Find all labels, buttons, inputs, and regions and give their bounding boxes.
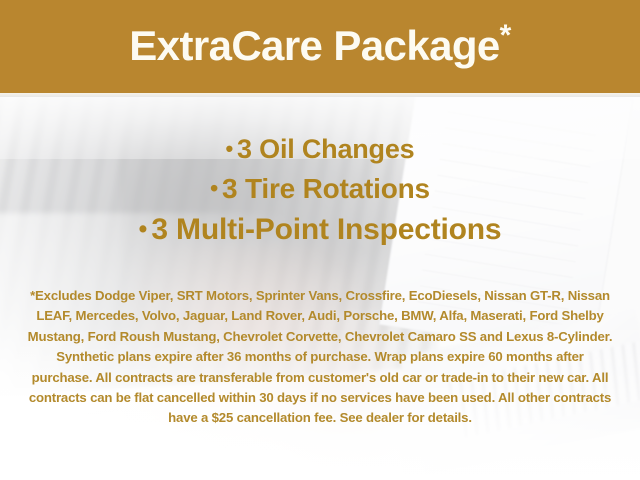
header-banner: ExtraCare Package* [0, 0, 640, 93]
bullet-icon: • [139, 216, 147, 243]
benefit-label: 3 Multi-Point Inspections [151, 213, 501, 246]
benefit-label: 3 Tire Rotations [222, 173, 430, 204]
title-asterisk: * [500, 19, 511, 52]
page-title-text: ExtraCare Package [129, 22, 499, 69]
benefit-item-multi-point-inspections: •3 Multi-Point Inspections [0, 215, 640, 245]
bullet-icon: • [210, 175, 218, 201]
benefit-item-oil-changes: •3 Oil Changes [0, 136, 640, 163]
header-underline [0, 93, 640, 97]
disclaimer-fineprint: *Excludes Dodge Viper, SRT Motors, Sprin… [26, 286, 614, 429]
benefits-list: •3 Oil Changes •3 Tire Rotations •3 Mult… [0, 136, 640, 245]
page-title: ExtraCare Package* [129, 25, 510, 67]
benefit-label: 3 Oil Changes [237, 134, 414, 164]
bullet-icon: • [226, 136, 234, 161]
benefit-item-tire-rotations: •3 Tire Rotations [0, 175, 640, 203]
extracare-package-ad: ExtraCare Package* •3 Oil Changes •3 Tir… [0, 0, 640, 480]
